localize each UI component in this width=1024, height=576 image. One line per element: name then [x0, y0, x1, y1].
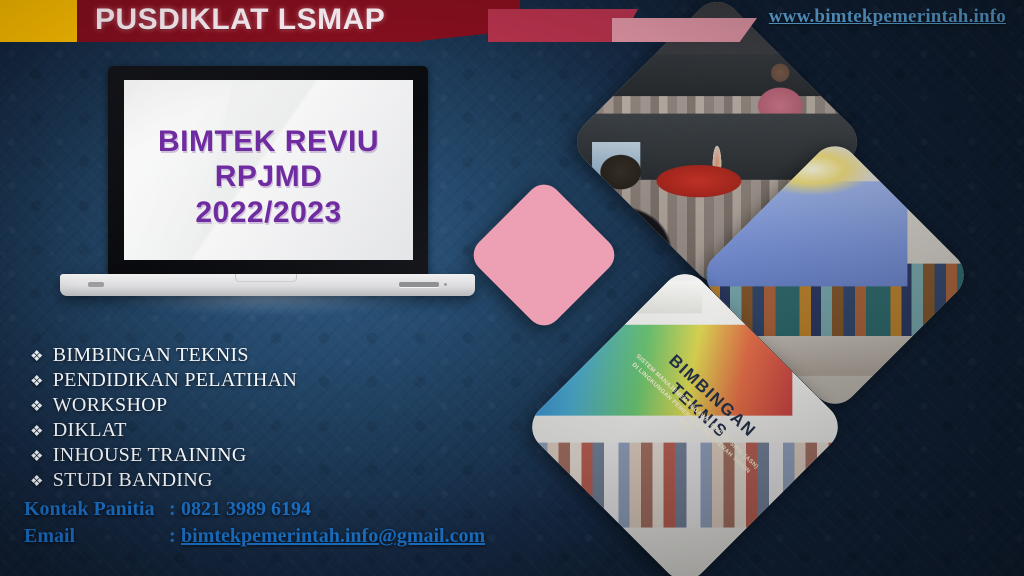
list-item-label: PENDIDIKAN PELATIHAN: [53, 369, 297, 392]
header-slab-pink: [612, 18, 757, 42]
diamond-bullet-icon: ❖: [30, 375, 44, 390]
laptop-lid: BIMTEK REVIU RPJMD 2022/2023: [108, 66, 428, 278]
header-yellow-block: [0, 0, 77, 42]
list-item: ❖ BIMBINGAN TEKNIS: [30, 344, 297, 369]
diamond-bullet-icon: ❖: [30, 350, 44, 365]
contact-email-colon: :: [169, 525, 181, 548]
poster-canvas: BIMBINGAN TEKNIS SISTEM MANAJEMEN PEGAWA…: [0, 0, 1024, 576]
list-item: ❖ PENDIDIKAN PELATIHAN: [30, 369, 297, 394]
laptop-base: [60, 274, 475, 296]
list-item-label: STUDI BANDING: [53, 469, 213, 492]
contact-row-email: Email : bimtekpemerintah.info@gmail.com: [24, 525, 485, 552]
services-list: ❖ BIMBINGAN TEKNIS ❖ PENDIDIKAN PELATIHA…: [30, 344, 297, 494]
laptop-left-foot: [88, 282, 104, 287]
contact-phone-label: Kontak Panitia: [24, 498, 169, 521]
contact-phone-colon: :: [169, 498, 181, 521]
list-item-label: DIKLAT: [53, 419, 127, 442]
laptop-hinge-notch: [235, 274, 297, 282]
screen-title-line-1: BIMTEK REVIU: [124, 124, 413, 159]
list-item-label: INHOUSE TRAINING: [53, 444, 247, 467]
list-item-label: BIMBINGAN TEKNIS: [53, 344, 249, 367]
brand-title: PUSDIKLAT LSMAP: [95, 3, 385, 37]
diamond-bullet-icon: ❖: [30, 475, 44, 490]
list-item: ❖ WORKSHOP: [30, 394, 297, 419]
laptop-port: [399, 282, 439, 287]
laptop-indicator-dot: [444, 283, 447, 286]
diamond-bullet-icon: ❖: [30, 450, 44, 465]
list-item: ❖ DIKLAT: [30, 419, 297, 444]
website-url[interactable]: www.bimtekpemerintah.info: [769, 6, 1006, 28]
contact-email-value[interactable]: bimtekpemerintah.info@gmail.com: [181, 525, 485, 548]
list-item: ❖ STUDI BANDING: [30, 469, 297, 494]
laptop-illustration: BIMTEK REVIU RPJMD 2022/2023: [60, 66, 475, 316]
list-item: ❖ INHOUSE TRAINING: [30, 444, 297, 469]
screen-title: BIMTEK REVIU RPJMD 2022/2023: [124, 124, 413, 230]
contact-email-label: Email: [24, 525, 169, 548]
diamond-bullet-icon: ❖: [30, 400, 44, 415]
screen-title-line-3: 2022/2023: [124, 195, 413, 230]
contact-row-phone: Kontak Panitia : 0821 3989 6194: [24, 498, 485, 525]
contact-block: Kontak Panitia : 0821 3989 6194 Email : …: [24, 498, 485, 552]
list-item-label: WORKSHOP: [53, 394, 168, 417]
contact-phone-value[interactable]: 0821 3989 6194: [181, 498, 311, 521]
screen-title-line-2: RPJMD: [124, 159, 413, 194]
diamond-bullet-icon: ❖: [30, 425, 44, 440]
laptop-screen: BIMTEK REVIU RPJMD 2022/2023: [124, 80, 413, 260]
